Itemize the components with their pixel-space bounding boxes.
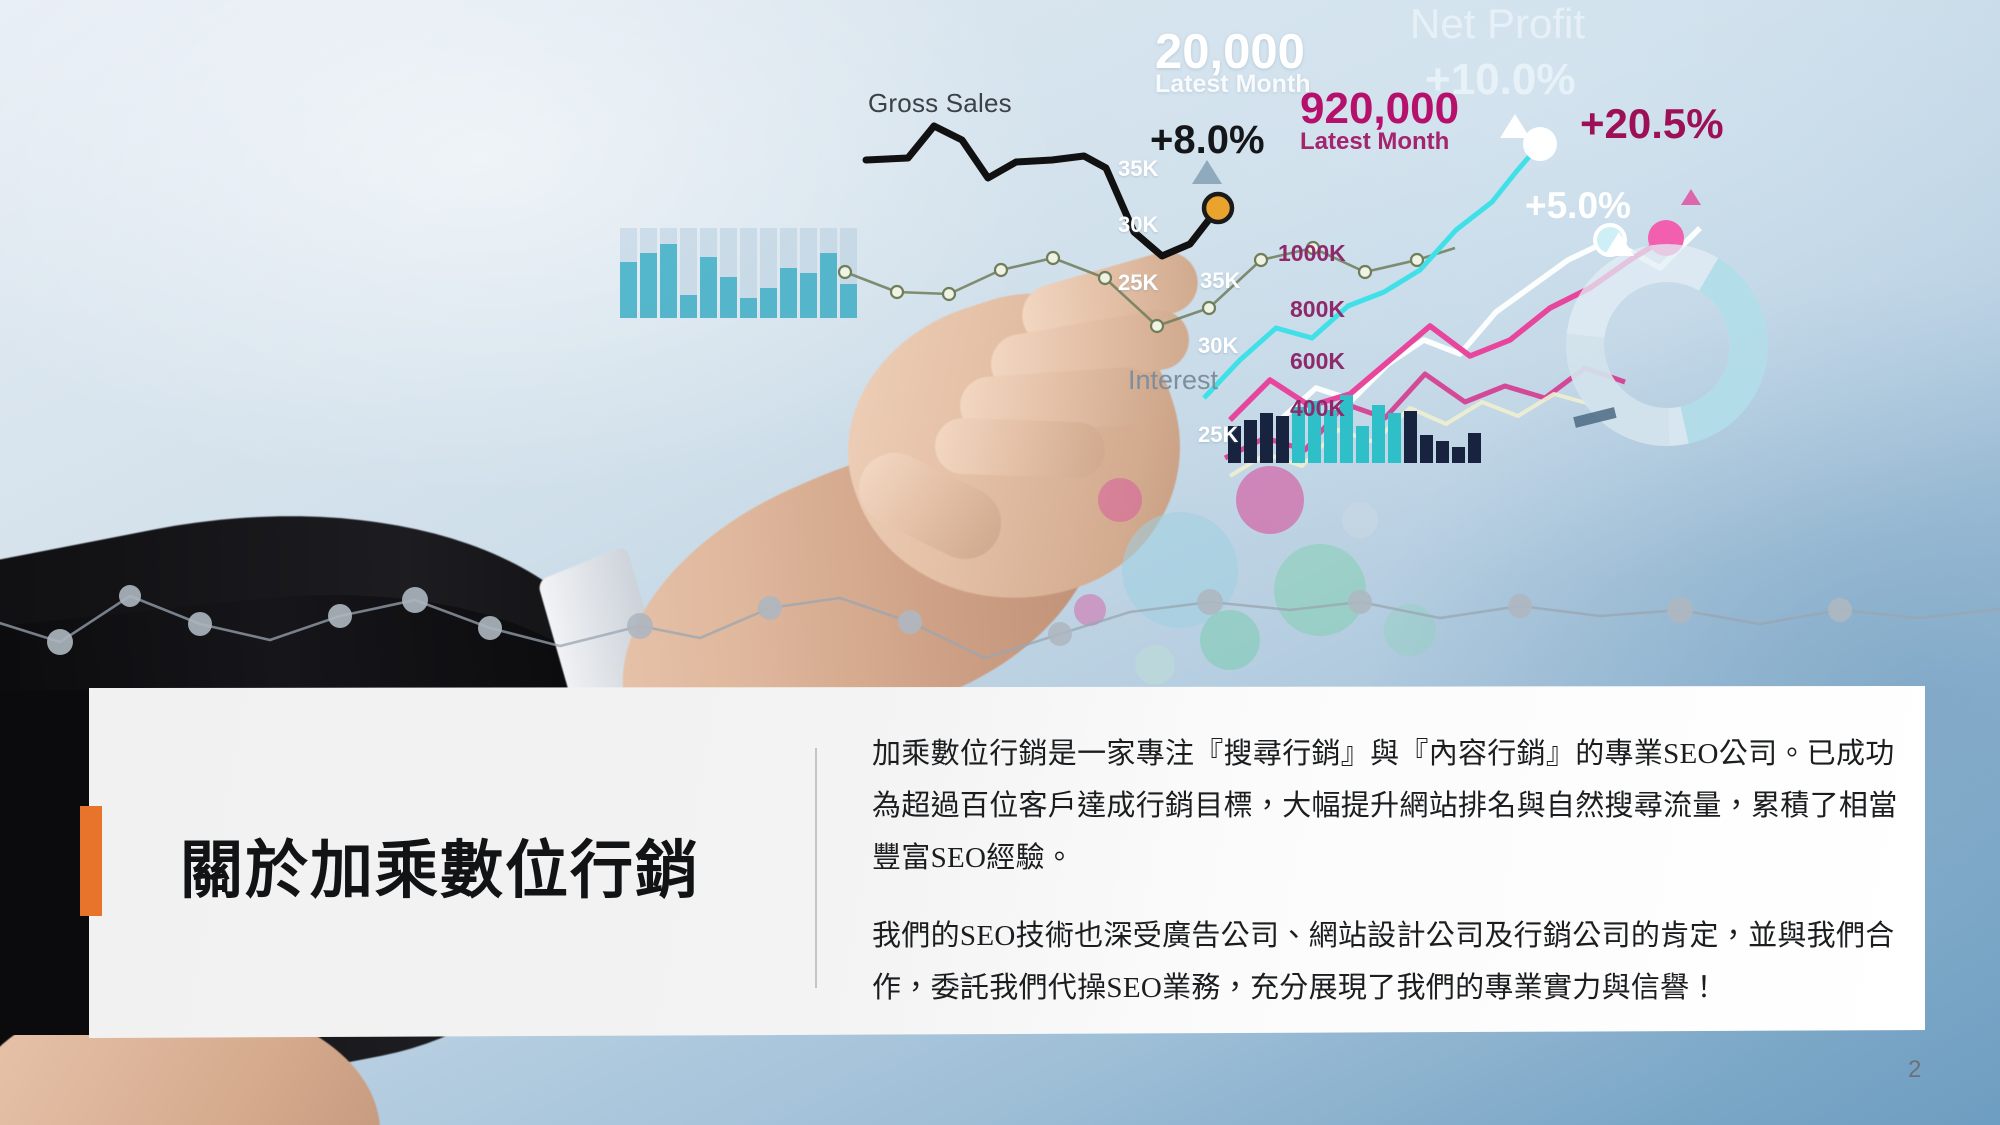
page-title: 關於加乘數位行銷: [180, 838, 780, 904]
finger-pinky: [934, 417, 1106, 479]
body-paragraph-1: 加乘數位行銷是一家專注『搜尋行銷』與『內容行銷』的專業SEO公司。已成功為超過百…: [872, 728, 1902, 884]
slide-root: Gross Sales Interest Net Profit 20,000 L…: [0, 0, 2000, 1125]
page-number: 2: [1908, 1056, 1921, 1084]
body-text: 加乘數位行銷是一家專注『搜尋行銷』與『內容行銷』的專業SEO公司。已成功為超過百…: [872, 728, 1902, 1014]
body-paragraph-2: 我們的SEO技術也深受廣告公司、網站設計公司及行銷公司的肯定，並與我們合作，委託…: [872, 910, 1902, 1014]
vertical-divider: [815, 748, 817, 988]
accent-bar: [80, 806, 102, 916]
panel-black-edge: [0, 690, 90, 1035]
